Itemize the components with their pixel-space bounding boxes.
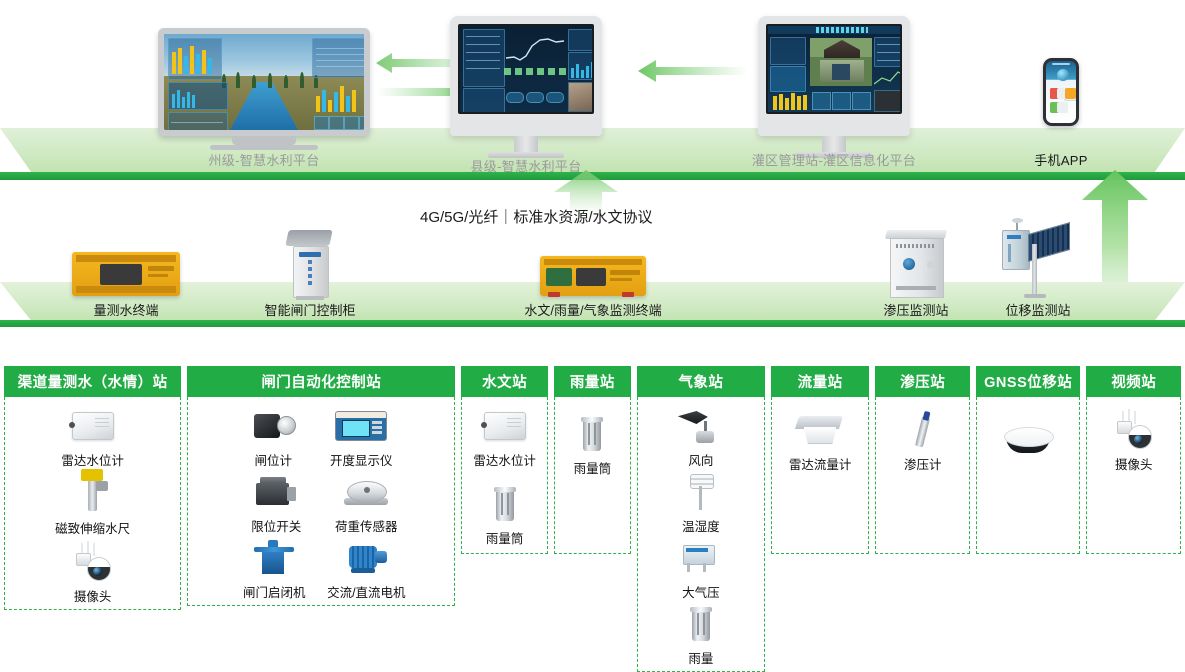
card-item-label: 雨量筒 bbox=[486, 528, 524, 547]
card-item-gate-hoist[interactable]: 闸门启闭机 bbox=[230, 535, 318, 601]
load-cell-icon bbox=[335, 469, 397, 515]
station-card-seepage[interactable]: 渗压站 渗压计 bbox=[875, 366, 970, 554]
card-item-label: 闸门启闭机 bbox=[243, 582, 306, 601]
card-item-label: 大气压 bbox=[682, 582, 720, 601]
terminal-floor-edge bbox=[0, 320, 1185, 327]
station-card-hydrology[interactable]: 水文站 雷达水位计 雨量筒 bbox=[461, 366, 548, 554]
card-title: 闸门自动化控制站 bbox=[187, 366, 455, 397]
terminal-label-cabinet: 智能闸门控制柜 bbox=[232, 300, 388, 319]
card-title: GNSS位移站 bbox=[976, 366, 1080, 397]
station-card-video[interactable]: 视频站 摄像头 bbox=[1086, 366, 1181, 554]
terminal-label-displacement: 位移监测站 bbox=[978, 300, 1098, 319]
rain-gauge-icon bbox=[561, 411, 623, 457]
card-item-wind-vane[interactable]: 风向 bbox=[670, 403, 732, 469]
card-item-label: 雷达水位计 bbox=[473, 450, 536, 469]
terminal-layer: 4G/5G/光纤｜标准水资源/水文协议 量测水终端 bbox=[0, 182, 1185, 362]
card-title: 流量站 bbox=[771, 366, 870, 397]
led-wall-screen bbox=[164, 34, 364, 130]
card-body: 雷达水位计 雨量筒 bbox=[461, 397, 548, 554]
card-body: 雷达水位计 磁致伸缩水尺 bbox=[4, 397, 181, 610]
card-item-label: 摄像头 bbox=[74, 586, 112, 605]
wind-vane-icon bbox=[670, 403, 732, 449]
card-body: 渗压计 bbox=[875, 397, 970, 554]
card-item-label: 风向 bbox=[688, 450, 713, 469]
card-item-rain-gauge[interactable]: 雨量 bbox=[670, 601, 732, 667]
card-item-magnetostrictive[interactable]: 磁致伸缩水尺 bbox=[48, 471, 138, 537]
card-title: 气象站 bbox=[637, 366, 765, 397]
card-body bbox=[976, 397, 1080, 554]
terminal-label-seepage: 渗压监测站 bbox=[856, 300, 976, 319]
card-item-gate-position[interactable]: 闸位计 bbox=[234, 403, 312, 469]
osmometer-icon bbox=[892, 407, 954, 453]
card-body: 雷达流量计 bbox=[771, 397, 870, 554]
arrow-irrigation-to-county-left bbox=[638, 58, 748, 89]
card-item-camera[interactable]: 摄像头 bbox=[9, 539, 176, 605]
station-card-gnss[interactable]: GNSS位移站 bbox=[976, 366, 1080, 554]
card-item-load-cell[interactable]: 荷重传感器 bbox=[322, 469, 410, 535]
terminal-label-measure: 量测水终端 bbox=[46, 300, 206, 319]
camera-icon bbox=[1103, 407, 1165, 453]
card-item-radar-level[interactable]: 雷达水位计 bbox=[56, 403, 130, 469]
card-title: 渗压站 bbox=[875, 366, 970, 397]
card-title: 视频站 bbox=[1086, 366, 1181, 397]
card-item-radar-level[interactable]: 雷达水位计 bbox=[466, 403, 543, 469]
gate-hoist-icon bbox=[243, 535, 305, 581]
platform-label-state: 州级-智慧水利平台 bbox=[108, 150, 420, 169]
temp-humidity-icon bbox=[670, 469, 732, 515]
barometer-icon bbox=[670, 535, 732, 581]
radar-level-meter-icon bbox=[62, 403, 124, 449]
card-item-label: 荷重传感器 bbox=[335, 516, 398, 535]
radar-flow-meter-icon bbox=[789, 407, 851, 453]
county-monitor-screen bbox=[458, 24, 594, 114]
card-title: 渠道量测水（水情）站 bbox=[4, 366, 181, 397]
platform-layer: 州级-智慧水利平台 bbox=[0, 0, 1185, 182]
platform-label-irrigation: 灌区管理站-灌区信息化平台 bbox=[714, 150, 954, 169]
card-item-label: 磁致伸缩水尺 bbox=[55, 518, 130, 537]
phone-screen bbox=[1046, 61, 1076, 123]
card-item-gnss-antenna[interactable] bbox=[981, 417, 1075, 464]
card-item-label: 雨量 bbox=[688, 648, 713, 667]
card-body: 摄像头 bbox=[1086, 397, 1181, 554]
card-item-label: 雷达水位计 bbox=[61, 450, 124, 469]
radar-level-meter-icon bbox=[474, 403, 536, 449]
card-item-opening-display[interactable]: 开度显示仪 bbox=[314, 403, 408, 469]
card-item-motor[interactable]: 交流/直流电机 bbox=[320, 535, 412, 601]
station-card-weather[interactable]: 气象站 风向 温湿度 bbox=[637, 366, 765, 554]
station-card-gate[interactable]: 闸门自动化控制站 闸位计 开度显示仪 bbox=[187, 366, 455, 554]
card-item-label: 闸位计 bbox=[255, 450, 293, 469]
smartphone-app[interactable] bbox=[1043, 58, 1079, 126]
motor-icon bbox=[335, 535, 397, 581]
card-item-label: 渗压计 bbox=[904, 454, 942, 473]
card-title: 雨量站 bbox=[554, 366, 631, 397]
card-item-label: 温湿度 bbox=[682, 516, 720, 535]
card-item-limit-switch[interactable]: 限位开关 bbox=[232, 469, 320, 535]
station-card-rainfall[interactable]: 雨量站 雨量筒 bbox=[554, 366, 631, 554]
card-item-osmometer[interactable]: 渗压计 bbox=[880, 407, 965, 473]
card-item-camera[interactable]: 摄像头 bbox=[1091, 407, 1176, 473]
gnss-antenna-icon bbox=[997, 417, 1059, 463]
card-item-label: 雨量筒 bbox=[574, 458, 612, 477]
card-item-label: 限位开关 bbox=[251, 516, 301, 535]
station-card-channel[interactable]: 渠道量测水（水情）站 雷达水位计 磁致伸缩水尺 bbox=[4, 366, 181, 554]
card-item-radar-flow[interactable]: 雷达流量计 bbox=[776, 407, 865, 473]
terminal-label-hydrology: 水文/雨量/气象监测终端 bbox=[503, 300, 683, 319]
rain-gauge-icon bbox=[474, 481, 536, 527]
card-item-label: 雷达流量计 bbox=[789, 454, 852, 473]
card-body: 闸位计 开度显示仪 限位开关 bbox=[187, 397, 455, 606]
protocol-label: 4G/5G/光纤｜标准水资源/水文协议 bbox=[420, 206, 653, 227]
station-card-flow[interactable]: 流量站 雷达流量计 bbox=[771, 366, 870, 554]
card-item-label: 摄像头 bbox=[1115, 454, 1153, 473]
card-item-rain-gauge[interactable]: 雨量筒 bbox=[466, 481, 543, 547]
card-item-label: 交流/直流电机 bbox=[327, 582, 405, 601]
limit-switch-icon bbox=[245, 469, 307, 515]
station-cards-row: 渠道量测水（水情）站 雷达水位计 磁致伸缩水尺 bbox=[4, 366, 1181, 554]
opening-display-icon bbox=[330, 403, 392, 449]
card-item-rain-gauge[interactable]: 雨量筒 bbox=[559, 411, 626, 477]
rain-gauge-icon bbox=[670, 601, 732, 647]
card-body: 雨量筒 bbox=[554, 397, 631, 554]
card-item-temp-humidity[interactable]: 温湿度 bbox=[670, 469, 732, 535]
gate-position-sensor-icon bbox=[242, 403, 304, 449]
card-item-label: 开度显示仪 bbox=[330, 450, 393, 469]
card-body: 风向 温湿度 大气压 bbox=[637, 397, 765, 672]
card-item-barometer[interactable]: 大气压 bbox=[670, 535, 732, 601]
camera-icon bbox=[62, 539, 124, 585]
magnetostrictive-gauge-icon bbox=[62, 471, 124, 517]
card-title: 水文站 bbox=[461, 366, 548, 397]
irrigation-monitor-screen bbox=[766, 24, 902, 114]
